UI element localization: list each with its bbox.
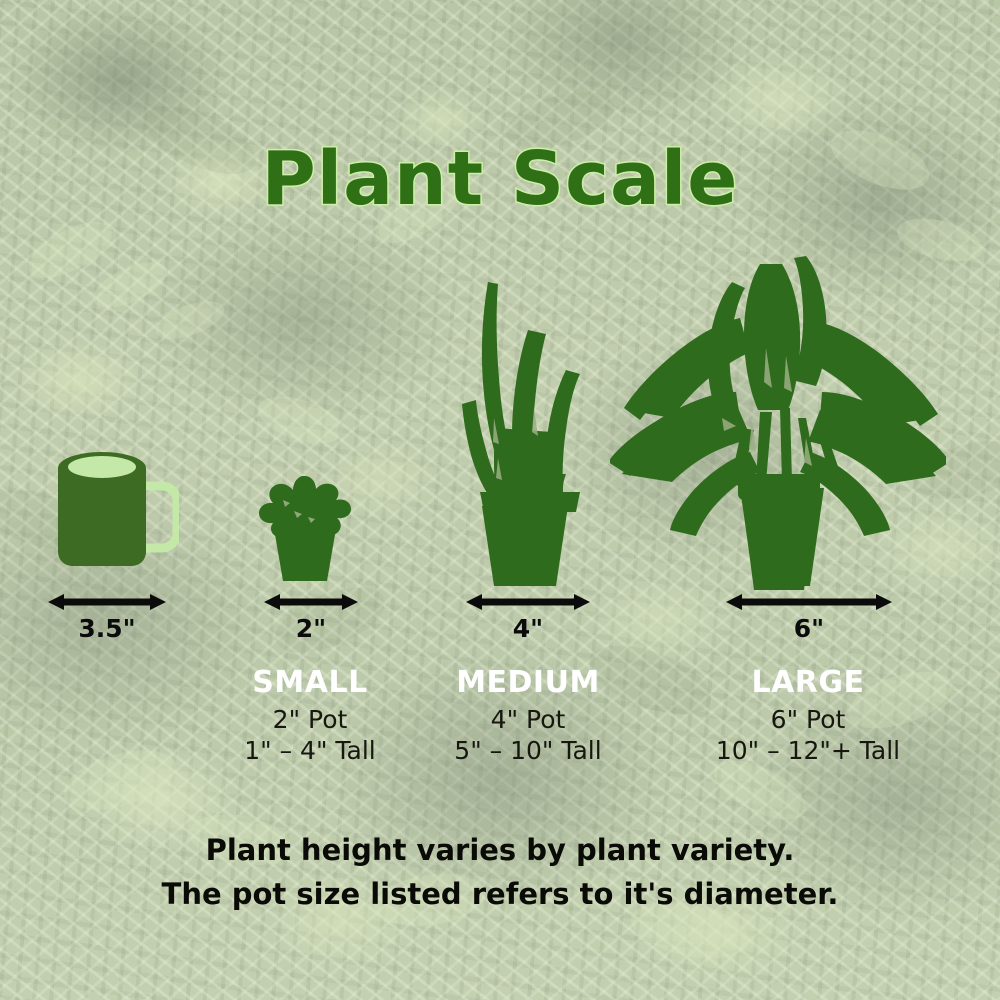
footer-note: Plant height varies by plant variety. Th… (0, 828, 1000, 916)
measure-arrow-mug: 3.5" (48, 592, 166, 612)
measure-arrow-small: 2" (264, 592, 358, 612)
footer-line-1: Plant height varies by plant variety. (0, 828, 1000, 872)
size-caption-large: LARGE 6" Pot 10" – 12"+ Tall (678, 666, 938, 767)
plant-scale-poster: Plant Scale (0, 0, 1000, 1000)
double-arrow-icon (466, 592, 590, 612)
size-pot-large: 6" Pot (678, 704, 938, 736)
double-arrow-icon (264, 592, 358, 612)
size-pot-medium: 4" Pot (398, 704, 658, 736)
double-arrow-icon (726, 592, 892, 612)
medium-snake-plant-icon (450, 278, 610, 595)
measure-arrow-medium: 4" (466, 592, 590, 612)
size-height-medium: 5" – 10" Tall (398, 735, 658, 767)
measure-arrow-large: 6" (726, 592, 892, 612)
double-arrow-icon (48, 592, 166, 612)
small-potted-plant-icon (250, 470, 360, 590)
page-title: Plant Scale (0, 142, 1000, 216)
measure-label-mug: 3.5" (48, 614, 166, 643)
measure-label-large: 6" (726, 614, 892, 643)
size-height-large: 10" – 12"+ Tall (678, 735, 938, 767)
coffee-mug-icon (44, 440, 179, 585)
size-title-large: LARGE (678, 666, 938, 700)
large-leafy-plant-icon (610, 252, 946, 599)
measure-label-small: 2" (264, 614, 358, 643)
measure-label-medium: 4" (466, 614, 590, 643)
size-caption-medium: MEDIUM 4" Pot 5" – 10" Tall (398, 666, 658, 767)
size-title-medium: MEDIUM (398, 666, 658, 700)
footer-line-2: The pot size listed refers to it's diame… (0, 872, 1000, 916)
